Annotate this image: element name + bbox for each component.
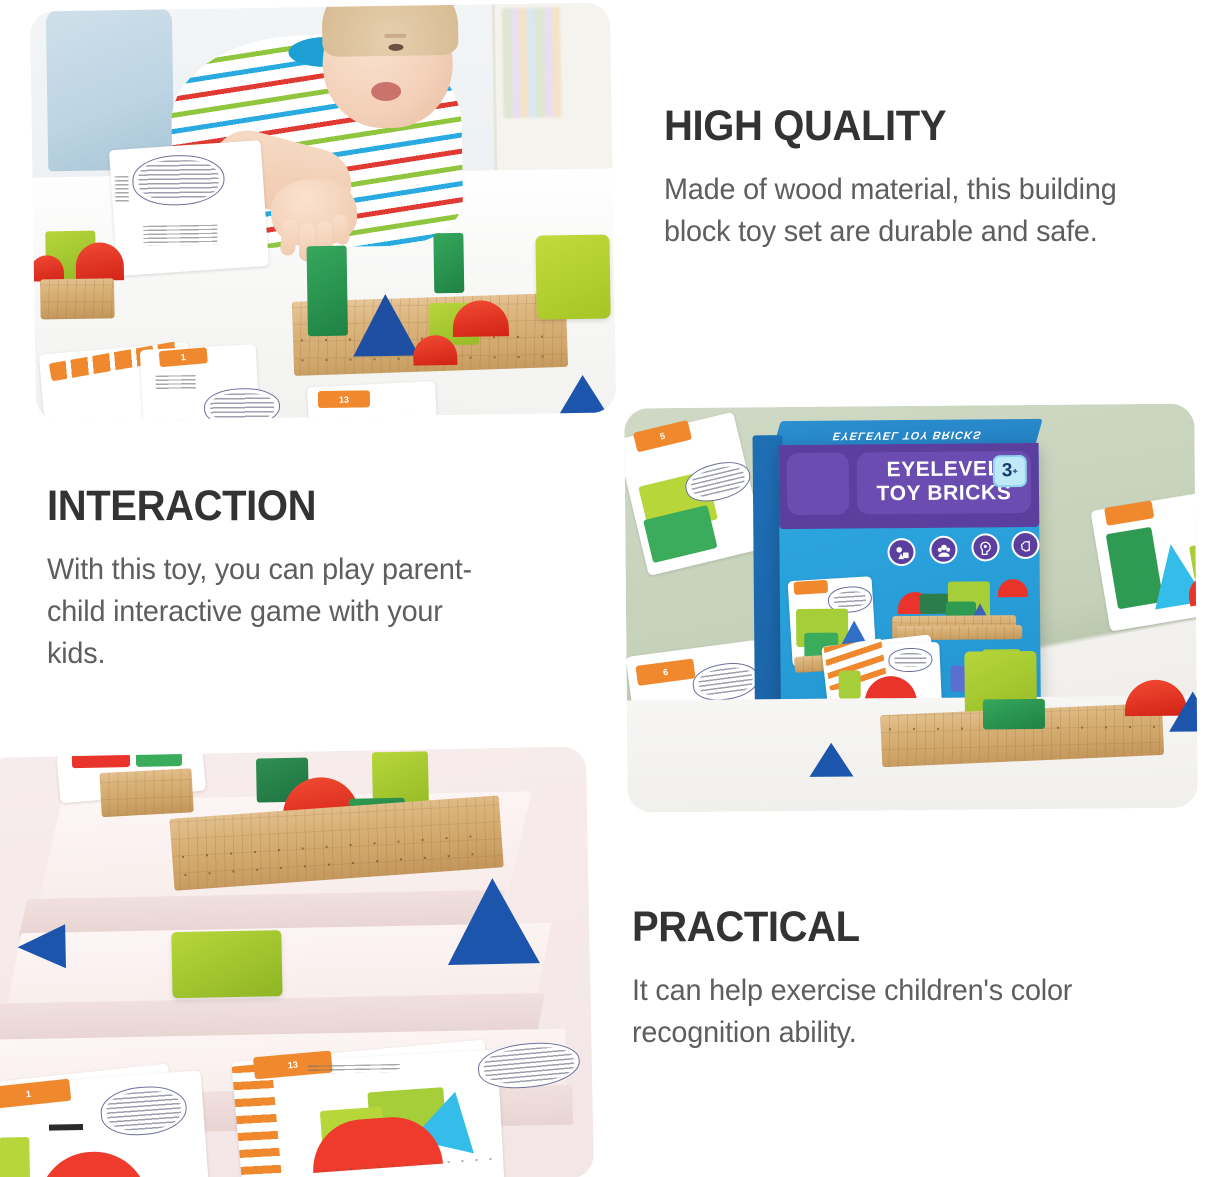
age-badge-number: 3 [1002,460,1013,482]
bubble-text-lines [483,1044,576,1086]
brain-icon [1011,531,1039,559]
card-shape-red [72,747,130,768]
card-text [114,176,128,202]
feature-body: Made of wood material, this building blo… [664,169,1125,253]
feature-heading: PRACTICAL [632,905,1097,950]
photo-child-playing: 1 13 [30,2,616,421]
block-blue-triangle [556,375,611,420]
card-tab: 13 [318,390,370,408]
people-icon [929,536,957,564]
block-green-small [433,233,464,293]
block-blue-triangle-right [446,877,540,965]
photo-retail-package: 5 6 [624,404,1198,813]
shelf-books [502,7,562,118]
feature-heading: INTERACTION [47,484,466,529]
bubble-text-lines [697,665,754,698]
box-art-red-dome [998,579,1028,597]
box-art-card-tab [793,580,828,595]
block-blue-triangle [352,294,419,357]
feature-heading: HIGH QUALITY [664,104,1110,149]
block-blue-triangle [1169,691,1198,731]
bubble-text-lines [138,160,219,201]
feature-practical: PRACTICAL It can help exercise children'… [632,905,1132,1054]
block-lime-slab [171,930,282,998]
box-art-lime [839,670,861,698]
infographic-canvas: 1 13 5 [0,0,1207,1177]
card-text [49,1124,83,1131]
feature-body: It can help exercise children's color re… [632,970,1112,1054]
card-text [156,375,196,390]
wood-block-short [99,768,193,817]
feature-interaction: INTERACTION With this toy, you can play … [47,484,497,675]
card-text [143,225,217,246]
bubble-text-lines [210,393,274,422]
block-green-tall [307,246,348,337]
card-number: 13 [318,390,370,408]
block-green-foreground [983,699,1045,730]
head-idea-icon [971,533,999,561]
block-blue-triangle-left [17,924,66,969]
age-badge-plus: + [1012,466,1017,476]
wood-stand [40,278,115,319]
speech-bubble [204,388,281,422]
feature-body: With this toy, you can play parent-child… [47,549,479,675]
bubble-text-lines [894,653,926,667]
child-eyebrow [384,34,406,38]
card-shape-lime [0,1137,30,1177]
age-badge: 3+ [993,455,1027,487]
bubble-text-lines [105,1089,182,1132]
bubble-text-lines [833,591,866,609]
shapes-icon [887,538,915,566]
box-banner-left-pill [787,453,850,516]
block-blue-triangle [809,743,853,777]
block-large-yellow-green [535,235,610,320]
card-shape-green [136,746,182,767]
photo-stepped-platform: 1 13 [0,746,594,1177]
feature-high-quality: HIGH QUALITY Made of wood material, this… [664,104,1144,253]
